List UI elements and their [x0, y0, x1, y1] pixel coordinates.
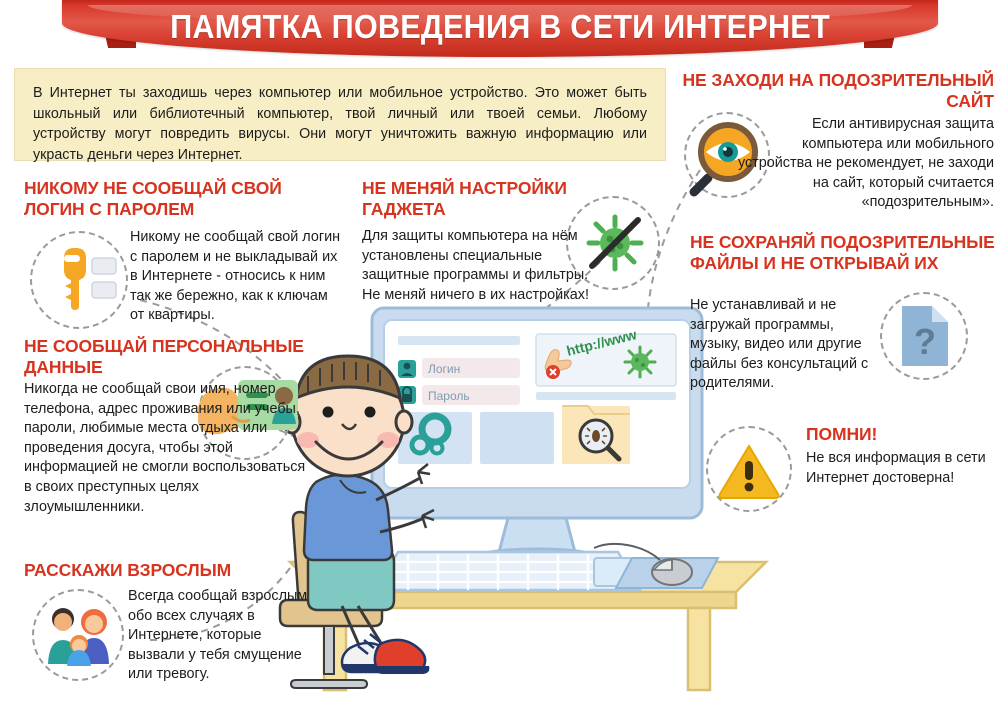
block-personal-data-heading: НЕ СООБЩАЙ ПЕРСОНАЛЬНЫЕ ДАННЫЕ: [24, 336, 344, 378]
block-remember-heading: ПОМНИ!: [806, 424, 996, 445]
block-suspicious-site: НЕ ЗАХОДИ НА ПОДОЗРИТЕЛЬНЫЙ САЙТ: [672, 70, 994, 116]
block-gadget-settings-body: Для защиты компьютера на нём установлены…: [362, 227, 602, 305]
block-tell-adults: РАССКАЖИ ВЗРОСЛЫМ: [24, 560, 324, 585]
block-suspicious-files-heading: НЕ СОХРАНЯЙ ПОДОЗРИТЕЛЬНЫЕ ФАЙЛЫ И НЕ ОТ…: [690, 232, 996, 274]
poster: ПАМЯТКА ПОВЕДЕНИЯ В СЕТИ ИНТЕРНЕТ В Инте…: [0, 0, 1000, 703]
block-login-password-heading: НИКОМУ НЕ СООБЩАЙ СВОЙ ЛОГИН С ПАРОЛЕМ: [24, 178, 344, 220]
intro-text: В Интернет ты заходишь через компьютер и…: [33, 83, 647, 165]
intro-box: В Интернет ты заходишь через компьютер и…: [14, 68, 666, 161]
file-question-icon: ?: [900, 304, 950, 368]
block-remember-text: Не вся информация в сети Интернет достов…: [806, 449, 996, 488]
block-gadget-settings-text: Для защиты компьютера на нём установлены…: [362, 227, 602, 305]
block-suspicious-site-heading: НЕ ЗАХОДИ НА ПОДОЗРИТЕЛЬНЫЙ САЙТ: [672, 70, 994, 112]
title-banner: ПАМЯТКА ПОВЕДЕНИЯ В СЕТИ ИНТЕРНЕТ: [62, 0, 938, 57]
block-tell-adults-heading: РАССКАЖИ ВЗРОСЛЫМ: [24, 560, 324, 581]
block-suspicious-site-body: Если антивирусная защита компьютера или …: [730, 115, 994, 213]
block-suspicious-files: НЕ СОХРАНЯЙ ПОДОЗРИТЕЛЬНЫЕ ФАЙЛЫ И НЕ ОТ…: [690, 232, 996, 278]
svg-text:?: ?: [914, 321, 936, 362]
block-personal-data-body: Никогда не сообщай свои имя, номер телеф…: [24, 380, 316, 517]
key-icon: [44, 246, 116, 312]
block-login-password: НИКОМУ НЕ СООБЩАЙ СВОЙ ЛОГИН С ПАРОЛЕМ: [24, 178, 344, 224]
block-tell-adults-text: Всегда сообщай взрослым обо всех случаях…: [128, 587, 320, 685]
block-remember: ПОМНИ! Не вся информация в сети Интернет…: [806, 424, 996, 488]
block-suspicious-files-body: Не устанавливай и не загружай программы,…: [690, 296, 878, 394]
screen-password-label: Пароль: [428, 389, 470, 403]
block-login-password-text: Никому не сообщай свой логин с паролем и…: [130, 228, 344, 326]
warning-triangle-icon: [718, 444, 780, 498]
block-personal-data-text: Никогда не сообщай свои имя, номер телеф…: [24, 380, 316, 517]
page-title: ПАМЯТКА ПОВЕДЕНИЯ В СЕТИ ИНТЕРНЕТ: [93, 7, 908, 47]
block-suspicious-files-text: Не устанавливай и не загружай программы,…: [690, 296, 878, 394]
block-tell-adults-body: Всегда сообщай взрослым обо всех случаях…: [128, 587, 320, 685]
family-icon: [46, 602, 112, 668]
screen-login-label: Логин: [428, 362, 460, 376]
block-suspicious-site-text: Если антивирусная защита компьютера или …: [730, 115, 994, 213]
block-login-password-body: Никому не сообщай свой логин с паролем и…: [130, 228, 344, 326]
